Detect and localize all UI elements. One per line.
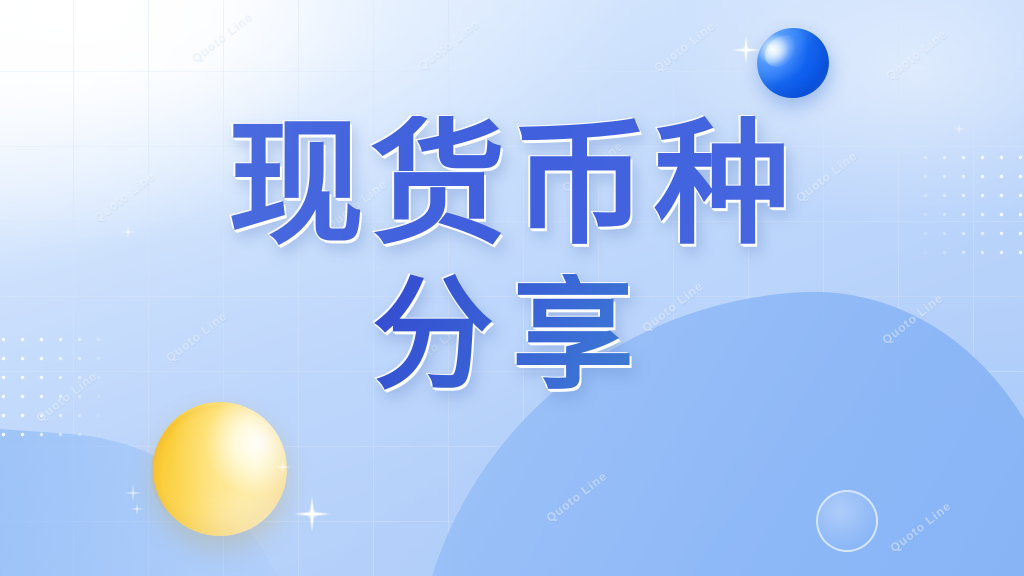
headline-block: 现货币种 分享 [0, 116, 1024, 396]
bubble-ring-decoration [816, 490, 878, 552]
watermark: Quoto Line [415, 17, 481, 73]
yellow-sphere-decoration [153, 402, 287, 536]
poster-canvas: Quoto Line Quoto Line Quoto Line Quoto L… [0, 0, 1024, 576]
sparkle-icon [286, 488, 338, 540]
headline-line-2: 分享 [0, 274, 1024, 396]
headline-line-1: 现货币种 [0, 116, 1024, 252]
